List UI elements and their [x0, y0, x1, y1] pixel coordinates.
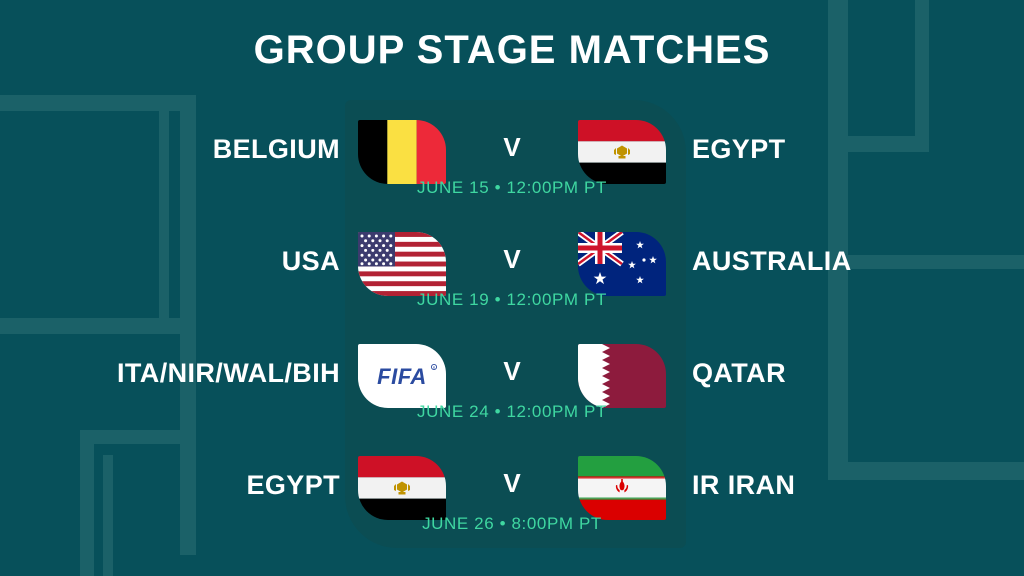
away-team-name: IR IRAN	[692, 466, 795, 504]
flag-iran-icon	[578, 456, 666, 520]
group-stage-matches-graphic: GROUP STAGE MATCHES BELGIUM V	[0, 0, 1024, 576]
away-team-name: QATAR	[692, 354, 786, 392]
versus-label: V	[0, 468, 1024, 499]
flag-australia-icon	[578, 232, 666, 296]
versus-label: V	[0, 356, 1024, 387]
flag-qatar-icon	[578, 344, 666, 408]
match-datetime: JUNE 24 • 12:00PM PT	[0, 402, 1024, 422]
match-row[interactable]: ITA/NIR/WAL/BIH FIFA R V QATAR JUNE 24 •…	[0, 328, 1024, 440]
match-datetime: JUNE 19 • 12:00PM PT	[0, 290, 1024, 310]
away-team-name: AUSTRALIA	[692, 242, 852, 280]
versus-label: V	[0, 132, 1024, 163]
match-row[interactable]: EGYPT V	[0, 440, 1024, 552]
match-row[interactable]: USA	[0, 216, 1024, 328]
flag-egypt-icon	[578, 120, 666, 184]
versus-label: V	[0, 244, 1024, 275]
match-row[interactable]: BELGIUM V	[0, 104, 1024, 216]
match-datetime: JUNE 26 • 8:00PM PT	[0, 514, 1024, 534]
away-team-name: EGYPT	[692, 130, 786, 168]
match-list: BELGIUM V	[0, 104, 1024, 552]
match-datetime: JUNE 15 • 12:00PM PT	[0, 178, 1024, 198]
page-title: GROUP STAGE MATCHES	[0, 28, 1024, 73]
